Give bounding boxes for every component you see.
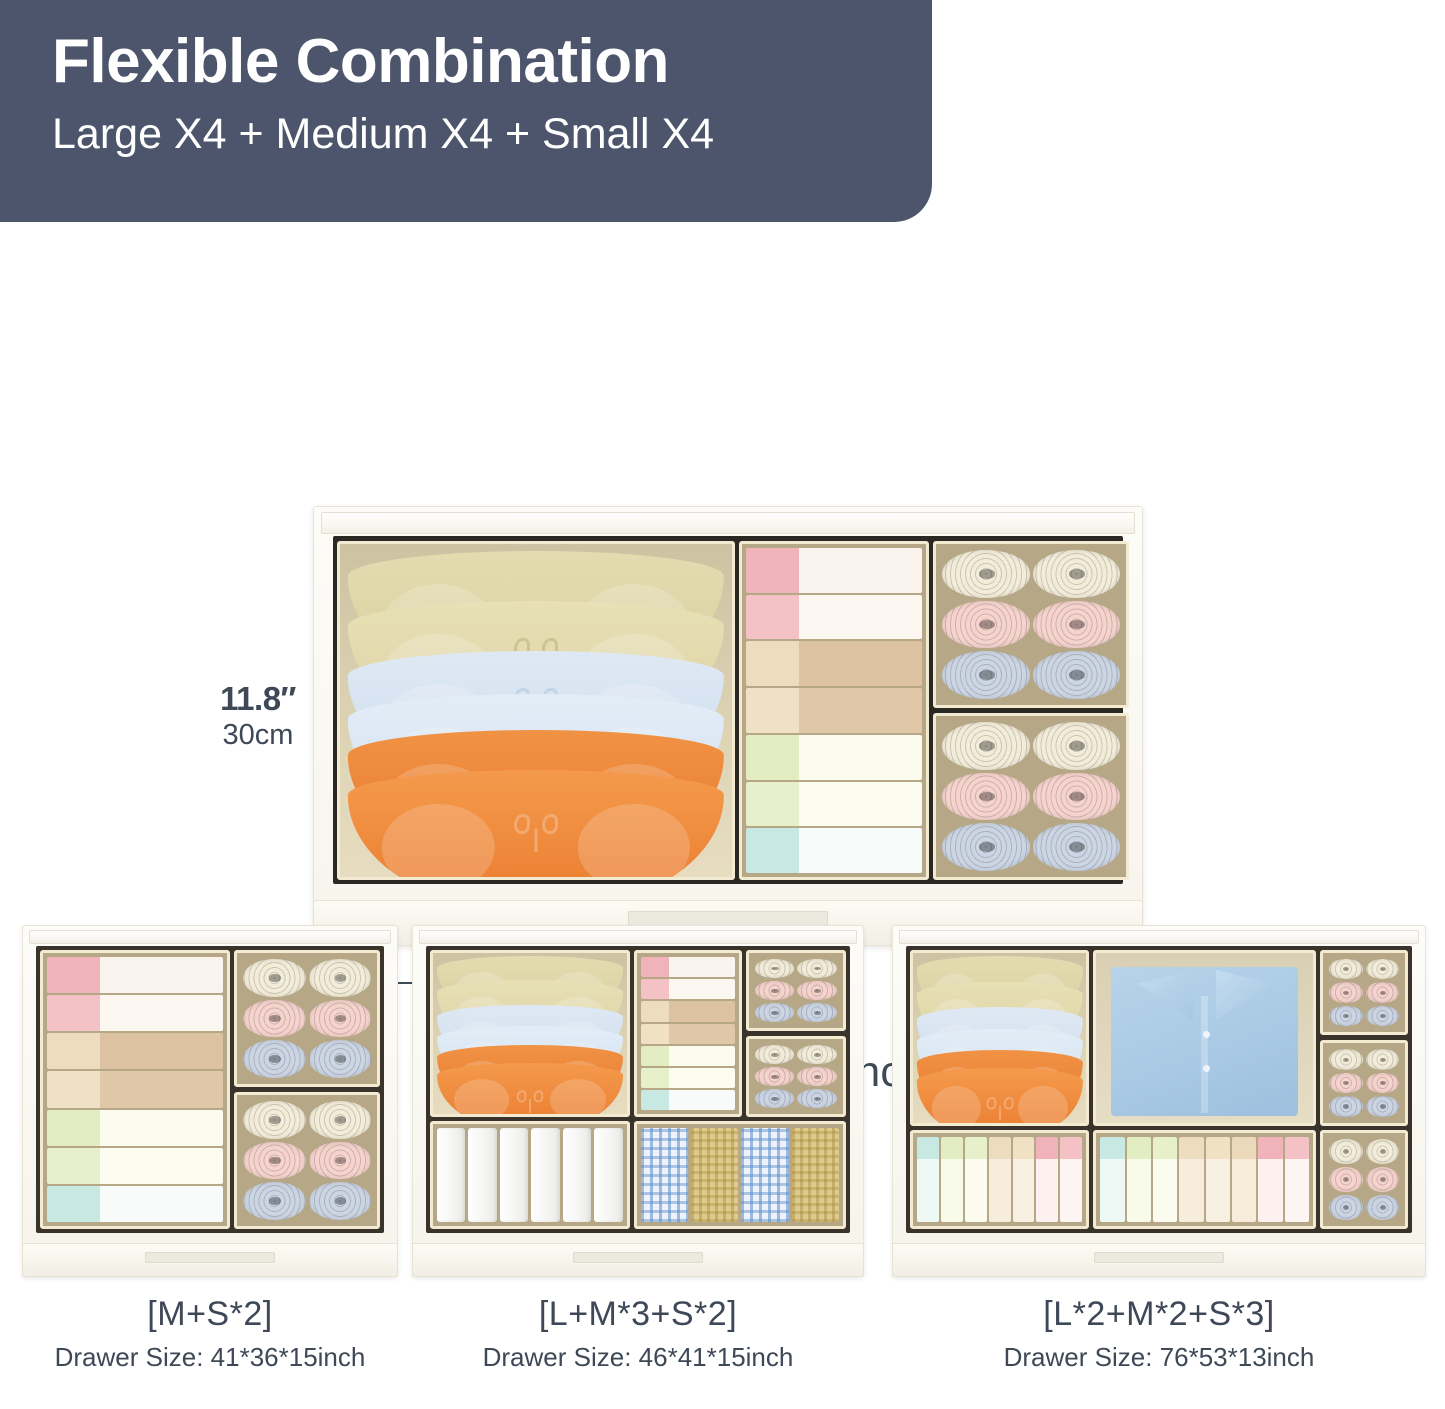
sock-roll: [309, 1040, 372, 1078]
sock-roll: [1366, 1006, 1400, 1026]
variant-combo-label: [M+S*2]: [22, 1295, 398, 1334]
compartment-small-column: [1320, 950, 1408, 1126]
shirt-collar-right: [1216, 970, 1272, 1021]
height-cm-value: 30cm: [206, 719, 310, 752]
sock-roll: [1366, 982, 1400, 1002]
folded-item: [47, 1110, 223, 1146]
drawer-interior: [906, 946, 1412, 1233]
plaid-roll: [792, 1128, 839, 1222]
folded-item: [1206, 1137, 1230, 1222]
sock-roll: [755, 1045, 795, 1064]
drawer-top-rail: [419, 930, 857, 944]
sock-roll: [1366, 1139, 1400, 1164]
variant-gallery: [M+S*2] Drawer Size: 41*36*15inch: [0, 925, 1445, 1409]
sock-roll-grid: [940, 548, 1122, 701]
sock-roll-grid: [753, 1043, 839, 1110]
sock-roll: [309, 959, 372, 997]
sock-roll-grid: [753, 957, 839, 1024]
sock-roll: [243, 1182, 306, 1220]
drawer-row-top: [910, 950, 1408, 1126]
sock-roll: [309, 1101, 372, 1139]
folded-item: [965, 1137, 987, 1222]
compartment-large-bras: [337, 541, 735, 880]
sock-roll: [797, 1003, 837, 1022]
bow-icon: [517, 1088, 543, 1106]
sock-roll: [1329, 1139, 1363, 1164]
compartment-small-upper: [234, 950, 380, 1087]
folded-item: [641, 1090, 735, 1110]
folded-item: [1100, 1137, 1124, 1222]
drawer-row-bottom: [430, 1121, 846, 1229]
folded-item: [1060, 1137, 1082, 1222]
sock-roll: [1033, 722, 1121, 770]
shirt-placket: [1201, 996, 1208, 1113]
plaid-row: [641, 1128, 839, 1222]
folded-item: [746, 641, 922, 686]
product-infographic: Flexible Combination Large X4 + Medium X…: [0, 0, 1445, 1409]
vertical-strip-row: [1100, 1137, 1309, 1222]
plaid-roll: [741, 1128, 788, 1222]
sock-roll: [243, 959, 306, 997]
compartment-small-lower: [234, 1092, 380, 1229]
shirt-collar-left: [1138, 970, 1194, 1021]
folded-item: [941, 1137, 963, 1222]
sock-roll: [942, 550, 1030, 598]
sock-roll: [1329, 1073, 1363, 1093]
folded-item: [47, 957, 223, 993]
sock-roll: [1366, 1167, 1400, 1192]
drawer-interior: [333, 536, 1123, 884]
folded-item: [1232, 1137, 1256, 1222]
compartment-large-bras: [430, 950, 630, 1117]
sock-roll: [243, 1142, 306, 1180]
plaid-roll: [691, 1128, 738, 1222]
drawer-top-rail: [29, 930, 391, 944]
drawer-front-panel: [892, 1243, 1426, 1277]
towel-row: [437, 1128, 623, 1222]
compartment-small-1: [1320, 950, 1408, 1035]
banner-subtitle: Large X4 + Medium X4 + Small X4: [52, 110, 932, 159]
sock-roll: [1329, 982, 1363, 1002]
sock-roll-grid: [1327, 1047, 1401, 1118]
compartment-small-3: [1320, 1130, 1408, 1229]
variant-drawer-2: [412, 925, 864, 1277]
drawer-row-top: [430, 950, 846, 1117]
compartment-medium-towels: [430, 1121, 630, 1229]
folded-item: [641, 957, 735, 977]
sock-roll-grid: [241, 957, 373, 1080]
folded-item: [746, 735, 922, 780]
sock-roll: [1033, 601, 1121, 649]
sock-roll: [1329, 1049, 1363, 1069]
sock-roll-grid: [241, 1099, 373, 1222]
bow-icon: [986, 1095, 1013, 1114]
sock-roll: [755, 959, 795, 978]
folded-stack: [641, 957, 735, 1110]
compartment-medium-folded: [634, 950, 742, 1117]
folded-item: [746, 782, 922, 827]
folded-item: [746, 595, 922, 640]
folded-stack: [746, 548, 922, 873]
sock-roll: [797, 1067, 837, 1086]
folded-item: [1036, 1137, 1058, 1222]
sock-roll: [1366, 959, 1400, 979]
sock-roll: [243, 1101, 306, 1139]
sock-roll-grid: [1327, 957, 1401, 1028]
compartment-medium-vertical-1: [910, 1130, 1089, 1229]
sock-roll: [755, 1067, 795, 1086]
folded-item: [917, 1137, 939, 1222]
compartment-small-column: [234, 950, 380, 1229]
sock-roll: [797, 1089, 837, 1108]
variant-drawer-size: Drawer Size: 76*53*13inch: [892, 1342, 1426, 1373]
drawer-handle: [628, 911, 828, 926]
header-banner: Flexible Combination Large X4 + Medium X…: [0, 0, 932, 222]
sock-roll: [1366, 1073, 1400, 1093]
drawer-front-panel: [22, 1243, 398, 1277]
compartment-medium-folded: [739, 541, 929, 880]
variant-caption-3: [L*2+M*2+S*3] Drawer Size: 76*53*13inch: [892, 1295, 1426, 1373]
compartment-small-2: [1320, 1040, 1408, 1125]
folded-item: [746, 548, 922, 593]
variant-drawer-1: [22, 925, 398, 1277]
variant-drawer-size: Drawer Size: 46*41*15inch: [412, 1342, 864, 1373]
folded-item: [641, 1001, 735, 1021]
variant-card-2: [L+M*3+S*2] Drawer Size: 46*41*15inch: [412, 925, 864, 1373]
sock-roll: [1329, 1195, 1363, 1220]
sock-roll: [243, 1040, 306, 1078]
variant-card-3: [L*2+M*2+S*3] Drawer Size: 76*53*13inch: [892, 925, 1426, 1373]
sock-roll: [1033, 773, 1121, 821]
sock-roll: [1329, 1167, 1363, 1192]
shirt-button: [1203, 1065, 1210, 1072]
folded-item: [641, 979, 735, 999]
sock-roll: [1033, 651, 1121, 699]
folded-item: [641, 1068, 735, 1088]
compartment-large-shirt: [1093, 950, 1316, 1126]
sock-roll: [309, 1000, 372, 1038]
plaid-roll: [641, 1128, 688, 1222]
variant-combo-label: [L*2+M*2+S*3]: [892, 1295, 1426, 1334]
folded-item: [1013, 1137, 1035, 1222]
drawer-handle: [573, 1252, 703, 1263]
sock-roll: [755, 981, 795, 1000]
drawer-interior: [36, 946, 384, 1233]
sock-roll: [1329, 959, 1363, 979]
folded-item: [641, 1046, 735, 1066]
height-inch-value: 11.8″: [206, 680, 310, 718]
main-drawer-illustration: [313, 506, 1143, 946]
variant-drawer-3: [892, 925, 1426, 1277]
folded-item: [1285, 1137, 1309, 1222]
towel-roll: [468, 1128, 496, 1222]
compartment-large-bras: [910, 950, 1089, 1126]
compartment-small-lower: [933, 713, 1129, 880]
folded-item: [1153, 1137, 1177, 1222]
folded-item: [746, 828, 922, 873]
towel-roll: [500, 1128, 528, 1222]
sock-roll: [942, 773, 1030, 821]
folded-item: [1127, 1137, 1151, 1222]
towel-roll: [594, 1128, 622, 1222]
hero-section: 11.8″ 30cm: [0, 222, 1445, 912]
folded-item: [1179, 1137, 1203, 1222]
sock-roll: [1033, 550, 1121, 598]
sock-roll: [1329, 1096, 1363, 1116]
towel-roll: [531, 1128, 559, 1222]
variant-card-1: [M+S*2] Drawer Size: 41*36*15inch: [22, 925, 398, 1373]
sock-roll: [309, 1142, 372, 1180]
shirt-button: [1203, 1031, 1210, 1038]
towel-roll: [437, 1128, 465, 1222]
sock-roll: [797, 1045, 837, 1064]
folded-item: [47, 1033, 223, 1069]
compartment-medium-plaid: [634, 1121, 846, 1229]
sock-roll: [1033, 823, 1121, 871]
folded-item: [47, 1071, 223, 1107]
compartment-small-upper: [746, 950, 846, 1031]
folded-item: [641, 1024, 735, 1044]
folded-item: [47, 1148, 223, 1184]
folded-stack: [47, 957, 223, 1222]
folded-item: [47, 1186, 223, 1222]
sock-roll: [243, 1000, 306, 1038]
page-title: Flexible Combination: [52, 28, 932, 96]
sock-roll: [755, 1003, 795, 1022]
drawer-row-bottom: [910, 1130, 1408, 1229]
sock-roll-grid: [1327, 1137, 1401, 1222]
compartment-small-upper: [933, 541, 1129, 708]
compartment-small-lower: [746, 1036, 846, 1117]
sock-roll-grid: [940, 720, 1122, 873]
height-dimension-label: 11.8″ 30cm: [206, 680, 310, 752]
compartment-medium-folded: [40, 950, 230, 1229]
sock-roll: [755, 1089, 795, 1108]
sock-roll: [942, 651, 1030, 699]
drawer-front-panel: [412, 1243, 864, 1277]
compartment-medium-vertical-2: [1093, 1130, 1316, 1229]
variant-combo-label: [L+M*3+S*2]: [412, 1295, 864, 1334]
variant-caption-2: [L+M*3+S*2] Drawer Size: 46*41*15inch: [412, 1295, 864, 1373]
drawer-interior: [426, 946, 850, 1233]
sock-roll: [942, 601, 1030, 649]
folded-item: [47, 995, 223, 1031]
sock-roll: [1366, 1049, 1400, 1069]
sock-roll: [1329, 1006, 1363, 1026]
compartment-small-column: [933, 541, 1129, 880]
sock-roll: [1366, 1195, 1400, 1220]
folded-item: [1258, 1137, 1282, 1222]
towel-roll: [563, 1128, 591, 1222]
drawer-handle: [1094, 1252, 1224, 1263]
folded-item: [989, 1137, 1011, 1222]
folded-item: [746, 688, 922, 733]
variant-drawer-size: Drawer Size: 41*36*15inch: [22, 1342, 398, 1373]
sock-roll: [797, 981, 837, 1000]
drawer-handle: [145, 1252, 275, 1263]
bow-icon: [514, 810, 558, 840]
compartment-small-column: [746, 950, 846, 1117]
sock-roll: [797, 959, 837, 978]
drawer-top-rail: [899, 930, 1419, 944]
folded-shirt: [1111, 967, 1297, 1116]
sock-roll: [309, 1182, 372, 1220]
sock-roll: [1366, 1096, 1400, 1116]
sock-roll: [942, 823, 1030, 871]
variant-caption-1: [M+S*2] Drawer Size: 41*36*15inch: [22, 1295, 398, 1373]
drawer-top-rail: [321, 512, 1135, 534]
vertical-strip-row: [917, 1137, 1082, 1222]
sock-roll: [942, 722, 1030, 770]
